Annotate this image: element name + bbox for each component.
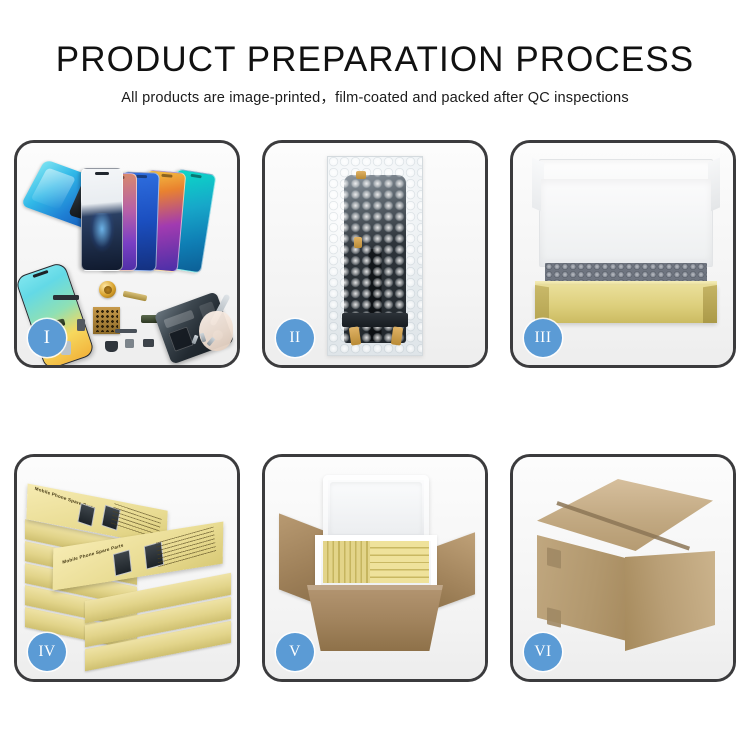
foam-backing-sheet-icon bbox=[541, 179, 711, 259]
step-badge-5: V bbox=[276, 633, 314, 671]
cardboard-carton-body bbox=[307, 585, 443, 651]
page-subtitle: All products are image-printed，film-coat… bbox=[0, 89, 750, 107]
infographic-header: PRODUCT PREPARATION PROCESS All products… bbox=[0, 0, 750, 107]
flex-cable-icon bbox=[123, 291, 148, 302]
kraft-box-tray-icon bbox=[535, 285, 717, 323]
process-step-panel-6: VI bbox=[510, 454, 736, 682]
process-step-panel-2: II bbox=[262, 140, 488, 368]
process-steps-grid: I II bbox=[14, 140, 736, 682]
front-glass-panel-icon bbox=[81, 168, 123, 271]
assembly-base-detail bbox=[342, 313, 408, 327]
small-part-icon bbox=[125, 339, 134, 348]
step-badge-3: III bbox=[524, 319, 562, 357]
adhesive-tab-icon bbox=[356, 171, 366, 179]
label-spec-lines bbox=[156, 526, 216, 568]
carton-side-face bbox=[625, 551, 715, 651]
process-step-panel-4: Mobile Phone Spare Parts Mobile Phone Sp… bbox=[14, 454, 240, 682]
small-part-icon bbox=[143, 339, 154, 347]
step-badge-6: VI bbox=[524, 633, 562, 671]
styrofoam-lid-icon bbox=[323, 475, 429, 541]
step-badge-4: IV bbox=[28, 633, 66, 671]
kraft-boxes-inside-icon bbox=[323, 541, 429, 583]
process-step-panel-3: III bbox=[510, 140, 736, 368]
process-step-panel-1: I bbox=[14, 140, 240, 368]
label-phone-photo bbox=[77, 503, 95, 527]
step-badge-2: II bbox=[276, 319, 314, 357]
phone-notch-icon bbox=[136, 175, 147, 178]
product-preparation-infographic: PRODUCT PREPARATION PROCESS All products… bbox=[0, 0, 750, 750]
screw-icon bbox=[200, 333, 207, 343]
screws-group-icon bbox=[193, 333, 219, 349]
phone-lineup-group bbox=[81, 151, 231, 271]
screw-icon bbox=[191, 335, 198, 345]
screw-icon bbox=[207, 337, 216, 346]
phone-notch-icon bbox=[191, 174, 202, 178]
carton-top-face bbox=[537, 479, 713, 551]
tape-patch-icon bbox=[547, 607, 561, 627]
component-bar-icon bbox=[115, 329, 137, 333]
phone-notch-icon bbox=[161, 174, 172, 178]
process-step-panel-5: V bbox=[262, 454, 488, 682]
chassis-detail bbox=[163, 310, 194, 329]
adhesive-tab-icon bbox=[354, 237, 362, 248]
small-part-icon bbox=[77, 319, 85, 331]
bubble-wrap-bag-icon bbox=[327, 156, 423, 356]
page-title: PRODUCT PREPARATION PROCESS bbox=[0, 40, 750, 80]
small-part-icon bbox=[105, 341, 118, 352]
component-bar-icon bbox=[53, 295, 79, 300]
label-phone-photo bbox=[113, 550, 132, 577]
step-badge-1: I bbox=[28, 319, 66, 357]
tape-patch-icon bbox=[547, 547, 561, 568]
chassis-detail bbox=[168, 326, 194, 352]
coil-component-icon bbox=[99, 281, 116, 298]
